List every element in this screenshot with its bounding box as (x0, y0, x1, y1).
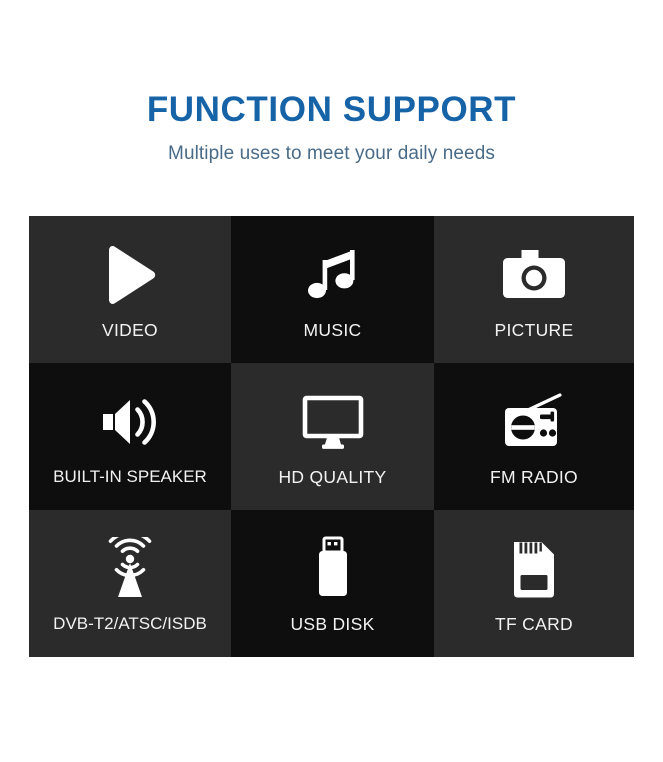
radio-icon (500, 379, 568, 465)
usb-drive-icon (310, 526, 356, 612)
feature-label: VIDEO (102, 320, 158, 341)
feature-grid: VIDEO MUSIC (29, 216, 634, 657)
music-note-icon (304, 232, 362, 318)
feature-label: MUSIC (304, 320, 362, 341)
feature-label: HD QUALITY (278, 467, 386, 488)
play-icon (101, 232, 159, 318)
feature-cell-fm-radio[interactable]: FM RADIO (434, 363, 634, 510)
feature-cell-hd-quality[interactable]: HD QUALITY (231, 363, 434, 510)
page-subtitle: Multiple uses to meet your daily needs (0, 129, 663, 165)
speaker-icon (97, 379, 163, 465)
feature-label: TF CARD (495, 614, 573, 635)
page-title: FUNCTION SUPPORT (0, 0, 663, 129)
feature-cell-usb-disk[interactable]: USB DISK (231, 510, 434, 657)
feature-cell-dvb-t2-atsc-isdb[interactable]: DVB-T2/ATSC/ISDB (29, 510, 231, 657)
feature-label: USB DISK (290, 614, 374, 635)
feature-cell-music[interactable]: MUSIC (231, 216, 434, 363)
feature-label: DVB-T2/ATSC/ISDB (53, 614, 207, 634)
feature-label: FM RADIO (490, 467, 578, 488)
broadcast-tower-icon (99, 526, 161, 612)
feature-cell-built-in-speaker[interactable]: BUILT-IN SPEAKER (29, 363, 231, 510)
feature-cell-video[interactable]: VIDEO (29, 216, 231, 363)
sd-card-icon (508, 526, 560, 612)
feature-cell-picture[interactable]: PICTURE (434, 216, 634, 363)
function-support-page: FUNCTION SUPPORT Multiple uses to meet y… (0, 0, 663, 762)
monitor-icon (300, 379, 366, 465)
feature-label: PICTURE (495, 320, 574, 341)
page-header: FUNCTION SUPPORT Multiple uses to meet y… (0, 0, 663, 165)
feature-label: BUILT-IN SPEAKER (53, 467, 207, 487)
feature-cell-tf-card[interactable]: TF CARD (434, 510, 634, 657)
camera-icon (500, 232, 568, 318)
